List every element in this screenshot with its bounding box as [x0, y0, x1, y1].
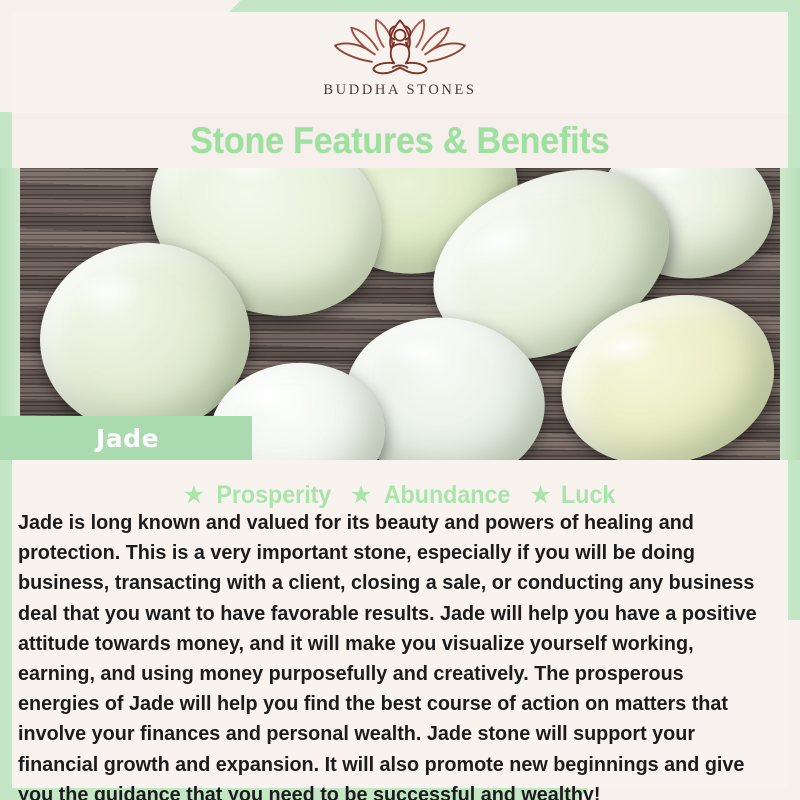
star-icon: ★ [529, 483, 551, 508]
brand-header: BUDDHA STONES [0, 0, 800, 113]
page-title: Stone Features & Benefits [190, 120, 609, 162]
description-text: Jade is long known and valued for its be… [18, 508, 763, 800]
keyword-luck: ★ Luck [529, 481, 617, 510]
star-icon: ★ [350, 483, 372, 508]
title-banner: Stone Features & Benefits [12, 113, 788, 168]
keyword-label: Luck [561, 481, 615, 510]
keyword-label: Abundance [384, 481, 511, 510]
keyword-label: Prosperity [217, 481, 332, 510]
photo-edge-right [780, 168, 800, 460]
stone-name-label: Jade [96, 424, 159, 453]
brand-name: BUDDHA STONES [323, 82, 476, 99]
stone-photo: Jade [0, 168, 800, 460]
keyword-row: ★ Prosperity ★ Abundance ★ Luck [0, 478, 800, 512]
lotus-meditation-icon [325, 16, 475, 78]
keyword-prosperity: ★ Prosperity [183, 481, 336, 510]
star-icon: ★ [183, 483, 205, 508]
keyword-abundance: ★ Abundance [350, 481, 516, 510]
stone-name-banner: Jade [0, 416, 252, 460]
infographic-card: BUDDHA STONES Stone Features & Benefits … [0, 0, 800, 800]
